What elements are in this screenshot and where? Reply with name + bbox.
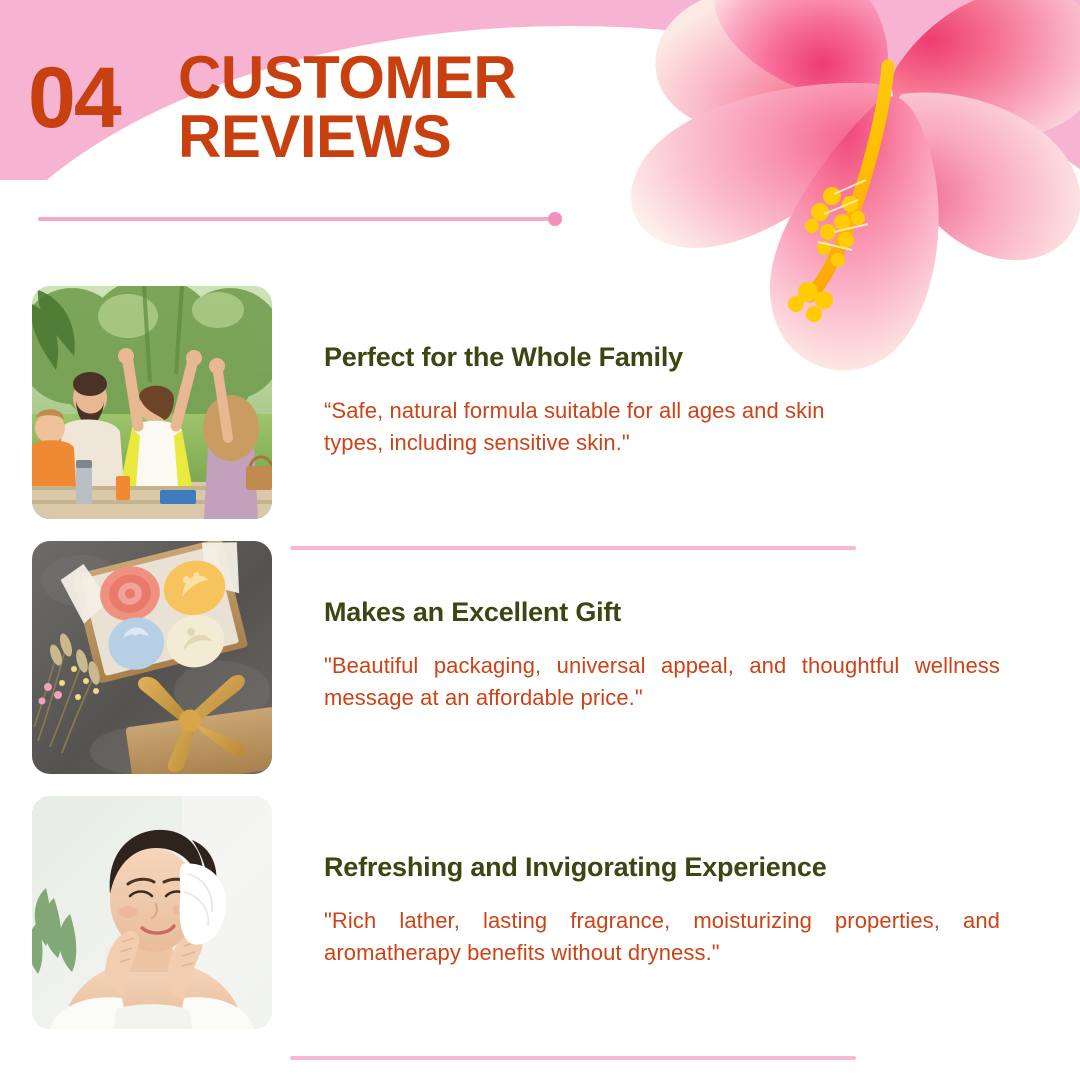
review-item: Makes an Excellent Gift "Beautiful packa…	[0, 541, 1080, 796]
section-number: 04	[28, 55, 120, 141]
accent-line	[38, 217, 550, 221]
page-title-line-2: REVIEWS	[178, 107, 516, 166]
review-text-block: Refreshing and Invigorating Experience "…	[272, 796, 1080, 969]
review-heading: Perfect for the Whole Family	[324, 342, 1000, 373]
review-heading: Makes an Excellent Gift	[324, 597, 1000, 628]
review-divider	[290, 1056, 856, 1060]
review-item: Refreshing and Invigorating Experience "…	[0, 796, 1080, 1051]
review-quote: "Rich lather, lasting fragrance, moistur…	[324, 905, 1000, 969]
review-quote: “Safe, natural formula suitable for all …	[324, 395, 844, 459]
header-accent-rule	[38, 212, 562, 226]
review-quote: "Beautiful packaging, universal appeal, …	[324, 650, 1000, 714]
soap-gift-box-photo	[32, 541, 272, 774]
review-text-block: Perfect for the Whole Family “Safe, natu…	[272, 286, 1080, 459]
review-item: Perfect for the Whole Family “Safe, natu…	[0, 286, 1080, 541]
woman-skincare-towel-photo	[32, 796, 272, 1029]
page-title-line-1: CUSTOMER	[178, 48, 516, 107]
reviews-list: Perfect for the Whole Family “Safe, natu…	[0, 286, 1080, 1051]
page-title: CUSTOMER REVIEWS	[178, 48, 516, 167]
review-text-block: Makes an Excellent Gift "Beautiful packa…	[272, 541, 1080, 714]
accent-dot	[548, 212, 562, 226]
family-picnic-photo	[32, 286, 272, 519]
review-heading: Refreshing and Invigorating Experience	[324, 852, 1000, 883]
